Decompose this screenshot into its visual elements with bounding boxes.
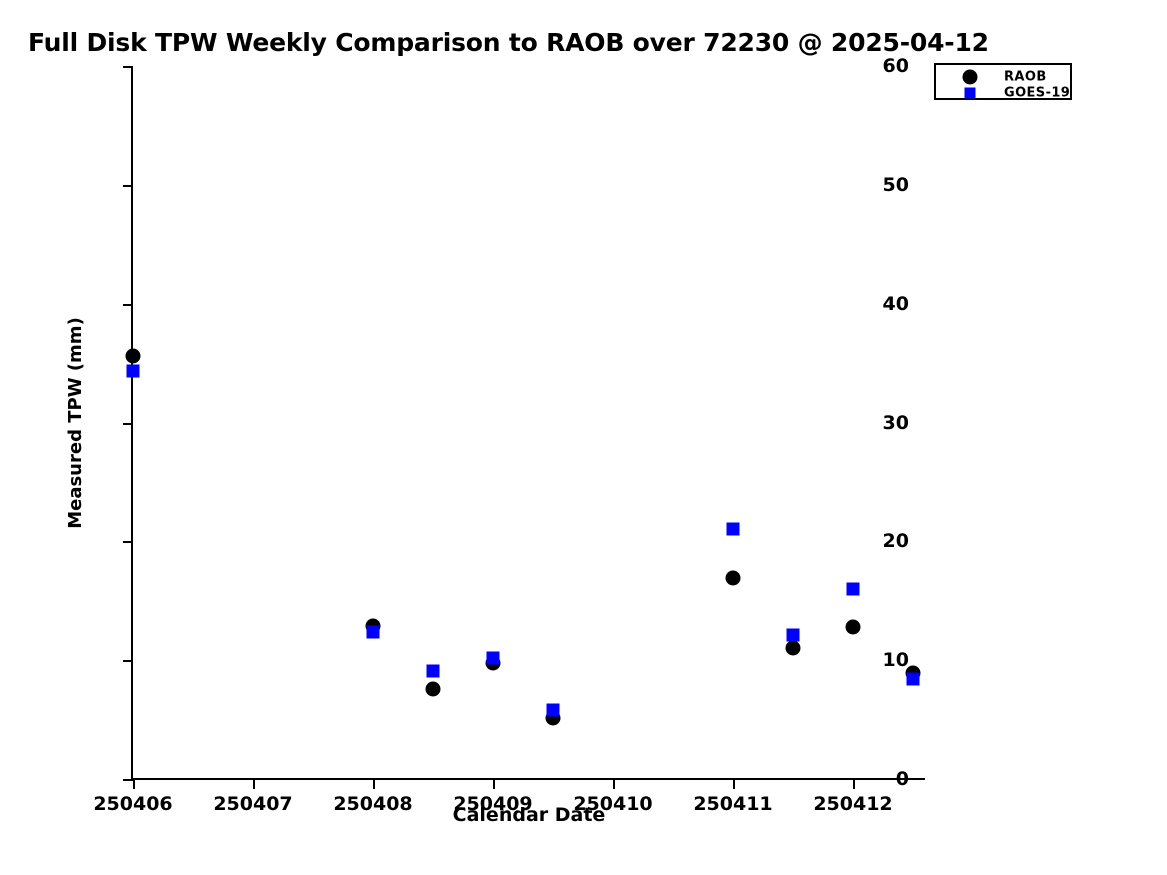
y-axis-tick <box>123 423 133 425</box>
y-axis-tick <box>123 185 133 187</box>
x-axis-tick-label: 250407 <box>213 793 292 815</box>
data-point-goes-19 <box>787 629 800 642</box>
x-axis-tick <box>133 779 135 789</box>
x-axis-tick-label: 250412 <box>813 793 892 815</box>
x-axis-tick <box>613 779 615 789</box>
legend-entry-raob: RAOB <box>936 68 1070 85</box>
y-axis-label-holder: Measured TPW (mm) <box>88 66 108 779</box>
data-point-raob <box>786 641 801 656</box>
legend-label: GOES-19 <box>1004 85 1070 100</box>
y-axis-tick <box>123 660 133 662</box>
x-axis-tick-label: 250408 <box>333 793 412 815</box>
data-point-goes-19 <box>847 582 860 595</box>
y-axis-tick <box>123 779 133 781</box>
x-axis-tick-label: 250409 <box>453 793 532 815</box>
data-point-goes-19 <box>487 651 500 664</box>
plot-area: 0102030405060 25040625040725040825040925… <box>133 66 925 779</box>
chart-title: Full Disk TPW Weekly Comparison to RAOB … <box>28 28 989 57</box>
y-axis-tick <box>123 541 133 543</box>
legend-entry-goes-19: GOES-19 <box>936 84 1070 101</box>
x-axis-tick <box>733 779 735 789</box>
y-axis-tick-label: 60 <box>883 55 909 77</box>
data-point-goes-19 <box>427 664 440 677</box>
y-axis-tick-label: 40 <box>883 293 909 315</box>
data-point-raob <box>846 619 861 634</box>
x-axis-tick-label: 250411 <box>693 793 772 815</box>
chart-legend: RAOBGOES-19 <box>934 63 1072 100</box>
y-axis-label: Measured TPW (mm) <box>65 317 86 529</box>
y-axis-tick-label: 0 <box>896 768 909 790</box>
data-point-goes-19 <box>547 704 560 717</box>
x-axis-tick-label: 250406 <box>93 793 172 815</box>
legend-label: RAOB <box>1004 69 1047 84</box>
legend-circle-icon <box>963 69 978 84</box>
data-point-goes-19 <box>367 625 380 638</box>
y-axis-tick-label: 30 <box>883 412 909 434</box>
x-axis-tick <box>493 779 495 789</box>
y-axis-tick <box>123 66 133 68</box>
legend-square-icon <box>965 87 976 98</box>
y-axis-tick-label: 50 <box>883 174 909 196</box>
data-point-raob <box>126 348 141 363</box>
x-axis-tick <box>853 779 855 789</box>
y-axis-tick <box>123 304 133 306</box>
x-axis-tick <box>253 779 255 789</box>
data-point-goes-19 <box>127 365 140 378</box>
y-axis-tick-label: 20 <box>883 530 909 552</box>
x-axis-tick <box>373 779 375 789</box>
data-point-raob <box>726 571 741 586</box>
data-point-goes-19 <box>907 673 920 686</box>
data-point-raob <box>426 681 441 696</box>
chart-figure: Full Disk TPW Weekly Comparison to RAOB … <box>0 0 1167 875</box>
x-axis-tick-label: 250410 <box>573 793 652 815</box>
y-axis-tick-label: 10 <box>883 649 909 671</box>
data-point-goes-19 <box>727 523 740 536</box>
